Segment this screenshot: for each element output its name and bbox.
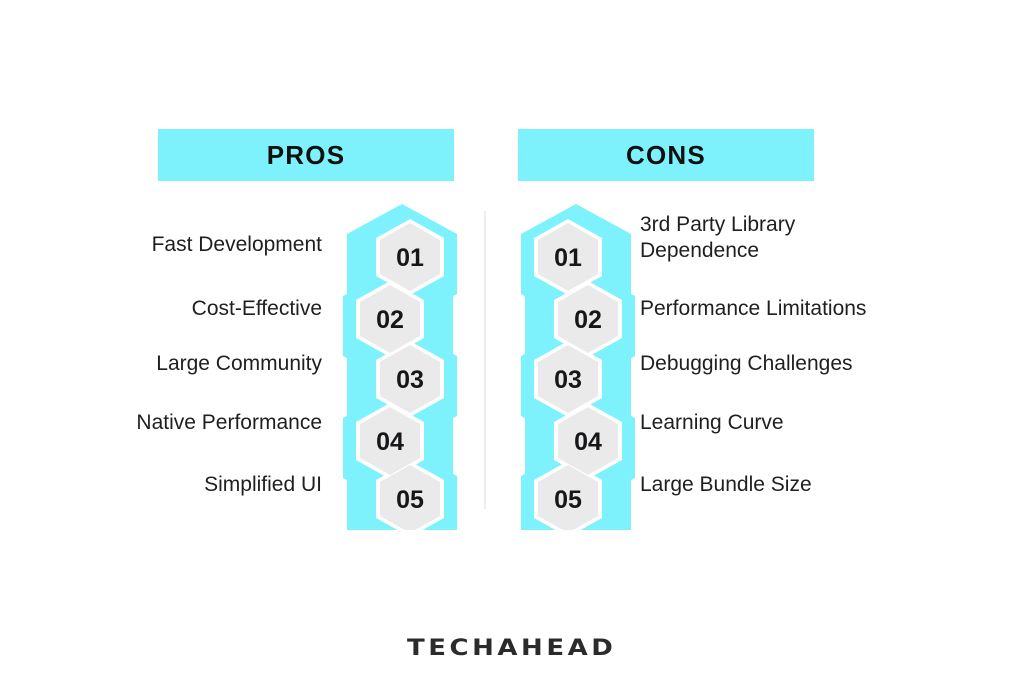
pros-item-label: Cost-Effective [192, 296, 322, 322]
brand-logo: TECHAHEAD [0, 636, 1024, 661]
cons-hexagon-chain: 01 02 03 04 05 [508, 200, 648, 530]
cons-badge-number: 02 [574, 306, 602, 334]
cons-badge-number: 05 [554, 486, 582, 514]
pros-badge-number: 05 [396, 486, 424, 514]
cons-header-bar: CONS [518, 129, 814, 181]
cons-column: 01 02 03 04 05 3rd Party Library Depende… [508, 200, 968, 530]
pros-item-label: Fast Development [152, 232, 322, 258]
pros-badge-number: 04 [376, 428, 404, 456]
list-item: Large Bundle Size [640, 458, 812, 512]
cons-item-label: Performance Limitations [640, 296, 866, 322]
cons-header-label: CONS [626, 140, 706, 171]
list-item: Debugging Challenges [640, 337, 853, 391]
column-divider [484, 211, 486, 509]
pros-hexagon-chain: 01 02 03 04 05 [330, 200, 470, 530]
cons-badge-number: 01 [554, 244, 582, 272]
list-item: Native Performance [136, 396, 322, 450]
pros-badge-number: 03 [396, 366, 424, 394]
pros-item-label: Large Community [156, 351, 322, 377]
list-item: Performance Limitations [640, 282, 866, 336]
pros-item-list: Fast Development Cost-Effective Large Co… [60, 200, 322, 530]
pros-column: Fast Development Cost-Effective Large Co… [60, 200, 470, 530]
cons-item-label: Large Bundle Size [640, 472, 812, 498]
pros-badge-number: 02 [376, 306, 404, 334]
list-item: Fast Development [152, 218, 322, 272]
pros-header-label: PROS [267, 140, 345, 171]
list-item: Simplified UI [204, 458, 322, 512]
pros-item-label: Native Performance [136, 410, 322, 436]
pros-item-label: Simplified UI [204, 472, 322, 498]
list-item: 3rd Party Library Dependence [640, 206, 850, 270]
pros-cons-infographic: PROS CONS Fast Development Cost-Effectiv… [0, 0, 1024, 683]
list-item: Large Community [156, 337, 322, 391]
cons-item-label: Debugging Challenges [640, 351, 853, 377]
list-item: Cost-Effective [192, 282, 322, 336]
list-item: Learning Curve [640, 396, 784, 450]
pros-badge-number: 01 [396, 244, 424, 272]
cons-badge-number: 04 [574, 428, 602, 456]
cons-badge-number: 03 [554, 366, 582, 394]
cons-item-label: Learning Curve [640, 410, 784, 436]
pros-header-bar: PROS [158, 129, 454, 181]
cons-item-label: 3rd Party Library Dependence [640, 212, 850, 263]
cons-item-list: 3rd Party Library Dependence Performance… [640, 200, 968, 530]
brand-name: TECHAHEAD [407, 636, 616, 661]
